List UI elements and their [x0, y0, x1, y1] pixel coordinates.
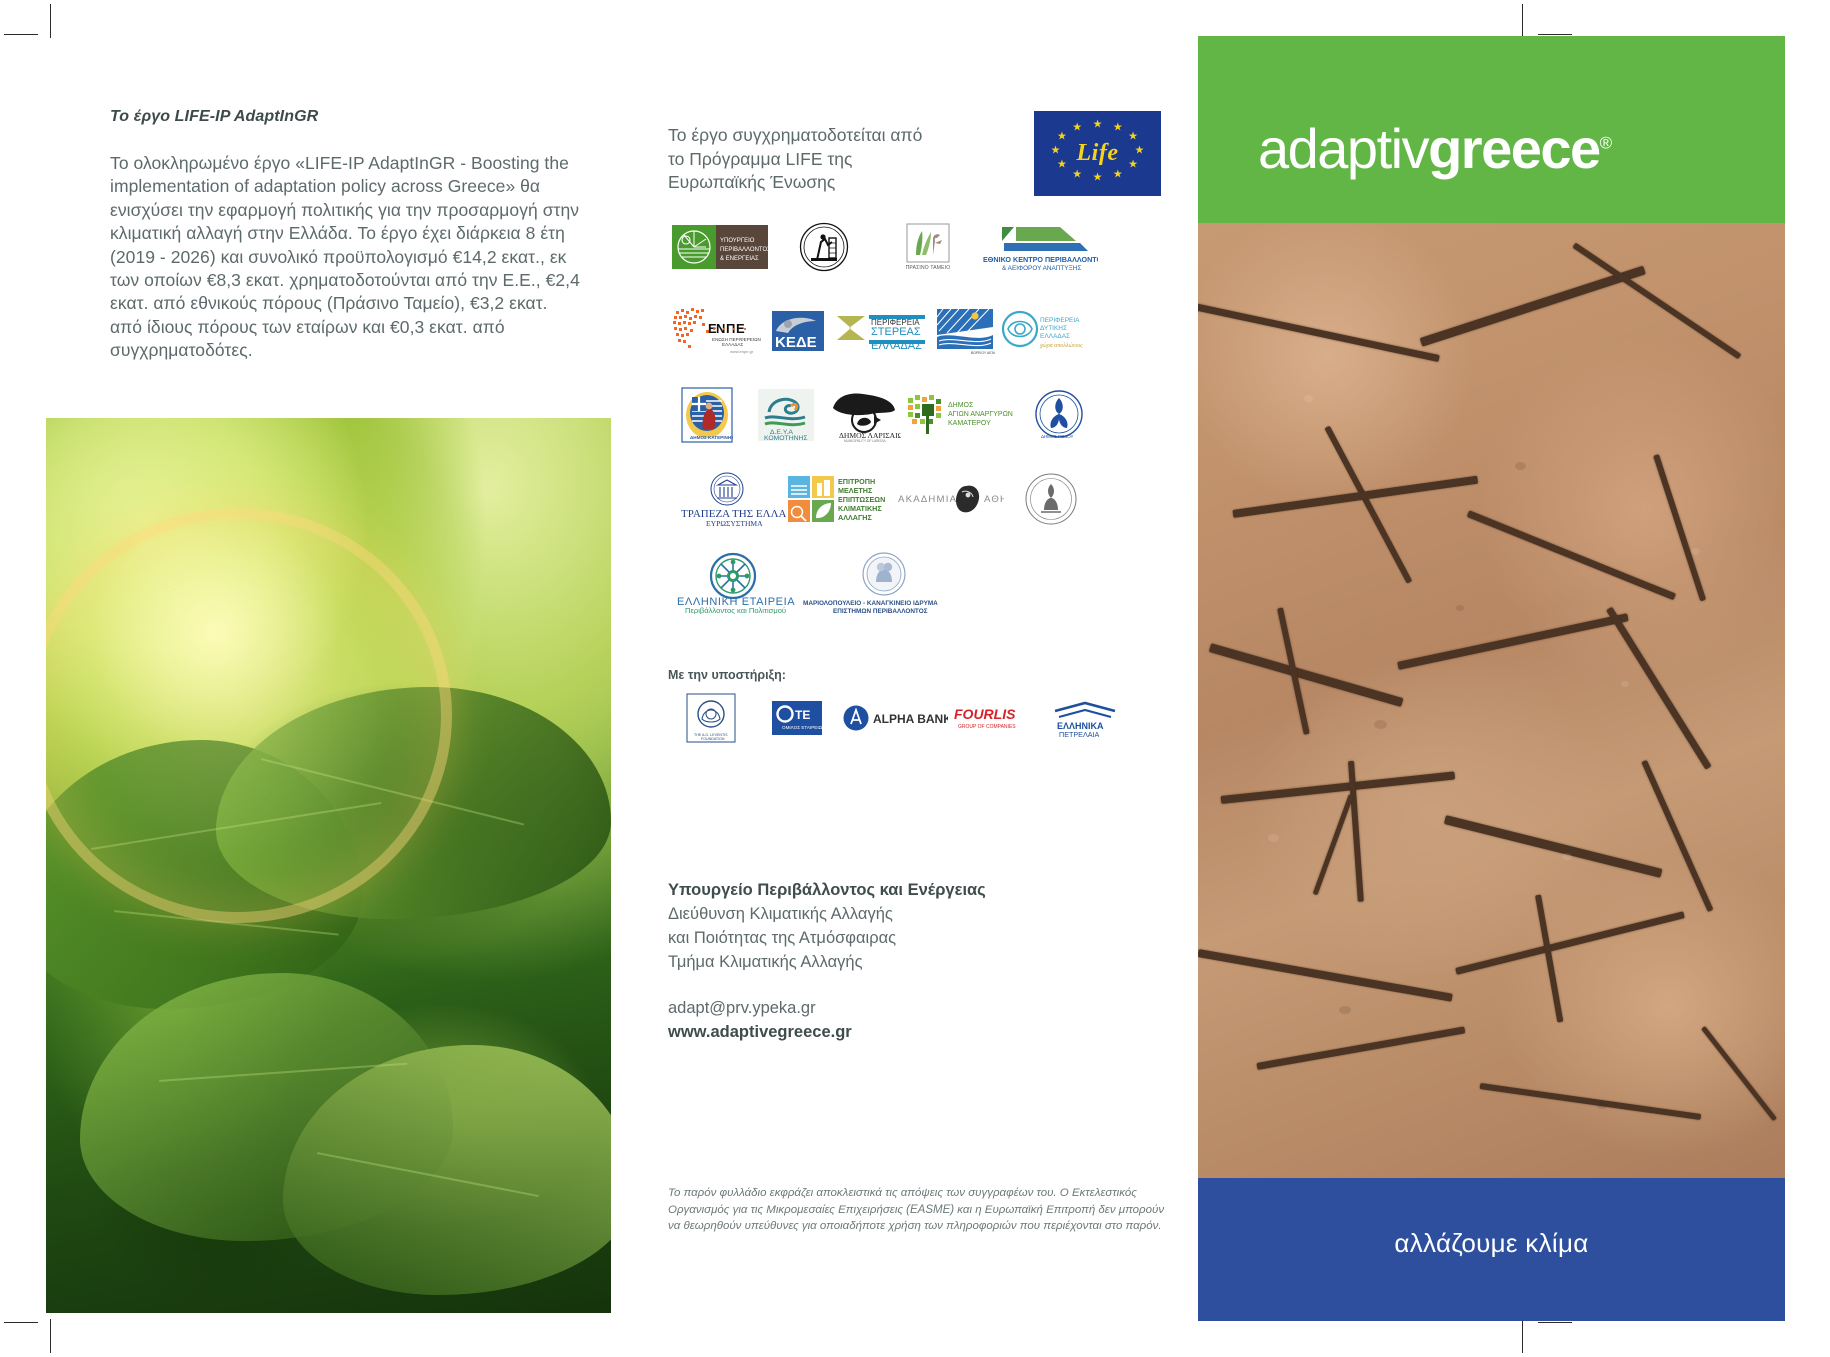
- crop-mark: [1538, 34, 1572, 35]
- spacer: [668, 974, 1098, 996]
- svg-text:TE: TE: [795, 708, 810, 722]
- brochure-page: Το έργο LIFE-IP AdaptInGR Το ολοκληρωμέν…: [0, 0, 1830, 1357]
- region-west-greece-logo: ΠΕΡΙΦΕΡΕΙΑ ΔΥΤΙΚΗΣ ΕΛΛΑΔΑΣ χώρα απολλώνι…: [998, 289, 1098, 373]
- svg-text:ΔΗΜΟΣ: ΔΗΜΟΣ: [948, 402, 974, 409]
- svg-text:ΔΗΜΟΣ ΡΟΔΟΥ: ΔΗΜΟΣ ΡΟΔΟΥ: [1041, 434, 1073, 439]
- crop-mark: [1522, 1319, 1523, 1353]
- contact-line-1: Διεύθυνση Κλιματικής Αλλαγής: [668, 902, 1098, 926]
- academy-of-athens-logo: ΑΚΑΔΗΜΙΑ ΑΘΗΝΩΝ: [898, 457, 1004, 541]
- svg-text:ΚΑΜΑΤΕΡΟΥ: ΚΑΜΑΤΕΡΟΥ: [948, 420, 991, 427]
- emeka-logo: ΕΠΙΤΡΟΠΗ ΜΕΛΕΤΗΣ ΕΠΙΠΤΩΣΕΩΝ ΚΛΙΜΑΤΙΚΗΣ Α…: [786, 457, 898, 541]
- alpha-bank-logo-icon: ALPHA BANK: [842, 703, 948, 733]
- enpe-logo-icon: Ε Ν Π Ε ΕΝΩΣΗ ΠΕΡΙΦΕΡΕΙΩΝ ΕΛΛΑΔΑΣ www.en…: [668, 305, 764, 357]
- ekpaa-logo-icon: ΕΘΝΙΚΟ ΚΕΝΤΡΟ ΠΕΡΙΒΑΛΛΟΝΤΟΣ & ΑΕΙΦΟΡΟΥ Α…: [980, 221, 1098, 273]
- onassis-foundation-logo-icon: THE A.G. LEVENTIS FOUNDATION: [686, 693, 736, 743]
- leaf-photo: [46, 418, 611, 1313]
- svg-text:ΣΤΕΡΕΑΣ: ΣΤΕΡΕΑΣ: [871, 326, 921, 338]
- svg-text:ΜΕΛΕΤΗΣ: ΜΕΛΕΤΗΣ: [838, 486, 873, 495]
- region-sterea-ellada-logo-icon: ΠΕΡΙΦΕΡΕΙΑ ΣΤΕΡΕΑΣ ΕΛΛΑΔΑΣ: [831, 308, 931, 354]
- kede-logo: ΚΕΔΕ: [764, 289, 831, 373]
- svg-text:ALPHA BANK: ALPHA BANK: [873, 712, 948, 726]
- svg-text:ΟΜΙΛΟΣ ΕΤΑΙΡΕΙΩΝ: ΟΜΙΛΟΣ ΕΤΑΙΡΕΙΩΝ: [782, 725, 823, 730]
- university-of-athens-logo-icon: [1024, 472, 1078, 526]
- middle-column: Το έργο συγχρηματοδοτείται από το Πρόγρα…: [668, 0, 1098, 1357]
- svg-text:& ΕΝΕΡΓΕΙΑΣ: & ΕΝΕΡΓΕΙΑΣ: [720, 256, 759, 262]
- svg-text:MUNICIPALITY OF LARISSA: MUNICIPALITY OF LARISSA: [844, 439, 887, 442]
- ypeka-logo-icon: ΥΠΟΥΡΓΕΙΟ ΠΕΡΙΒΑΛΛΟΝΤΟΣ & ΕΝΕΡΓΕΙΑΣ: [672, 225, 768, 269]
- svg-text:GROUP OF COMPANIES: GROUP OF COMPANIES: [958, 724, 1016, 730]
- kede-logo-icon: ΚΕΔΕ: [770, 309, 826, 353]
- svg-text:ΕΠΙΠΤΩΣΕΩΝ: ΕΠΙΠΤΩΣΕΩΝ: [838, 495, 885, 504]
- svg-text:Περιβάλλοντος και Πολιτισμού: Περιβάλλοντος και Πολιτισμού: [685, 606, 786, 614]
- life-programme-flag-icon: ★ ★ ★ ★ ★ ★ ★ ★ ★ ★ ★ ★ Life: [1034, 111, 1161, 196]
- svg-text:ΕΘΝΙΚΟ ΚΕΝΤΡΟ ΠΕΡΙΒΑΛΛΟΝΤΟΣ: ΕΘΝΙΚΟ ΚΕΝΤΡΟ ΠΕΡΙΒΑΛΛΟΝΤΟΣ: [983, 255, 1098, 264]
- green-fund-caption: ΠΡΑΣΙΝΟ ΤΑΜΕΙΟ: [906, 265, 951, 271]
- elliniki-etairia-logo-icon: ΕΛΛΗΝΙΚΗ ΕΤΑΙΡΕΙΑ Περιβάλλοντος και Πολι…: [671, 552, 795, 614]
- svg-text:ΠΕΡΙΦΕΡΕΙΑ: ΠΕΡΙΦΕΡΕΙΑ: [1040, 317, 1080, 324]
- pebble: [1515, 462, 1526, 470]
- svg-text:ΕΠΙΤΡΟΠΗ: ΕΠΙΤΡΟΠΗ: [838, 477, 875, 486]
- partner-logo-row: ΥΠΟΥΡΓΕΙΟ ΠΕΡΙΒΑΛΛΟΝΤΟΣ & ΕΝΕΡΓΕΙΑΣ: [668, 205, 1098, 289]
- ypeka-logo: ΥΠΟΥΡΓΕΙΟ ΠΕΡΙΒΑΛΛΟΝΤΟΣ & ΕΝΕΡΓΕΙΑΣ: [668, 205, 772, 289]
- svg-text:χώρα απολλώνιος: χώρα απολλώνιος: [1039, 343, 1083, 349]
- partner-logo-grid: ΥΠΟΥΡΓΕΙΟ ΠΕΡΙΒΑΛΛΟΝΤΟΣ & ΕΝΕΡΓΕΙΑΣ: [668, 205, 1098, 625]
- life-wordmark: Life: [1077, 140, 1119, 167]
- crop-mark: [4, 34, 38, 35]
- registered-mark-icon: ®: [1600, 133, 1611, 152]
- alpha-bank-logo: ALPHA BANK: [840, 690, 950, 746]
- municipality-katerini-logo: ΔΗΜΟΣ ΚΑΤΕΡΙΝΗΣ: [668, 373, 747, 457]
- crop-mark: [1522, 4, 1523, 38]
- municipality-rhodes-logo-icon: ΔΗΜΟΣ ΡΟΔΟΥ: [1034, 389, 1084, 441]
- soil-base: [1198, 223, 1785, 1178]
- brand-wordmark: adaptivgreece®: [1258, 116, 1611, 181]
- bank-of-greece-logo: ΤΡΑΠΕΖΑ ΤΗΣ ΕΛΛΑΔΟΣ ΕΥΡΩΣΥΣΤΗΜΑ: [668, 457, 786, 541]
- fourlis-logo: FOURLIS GROUP OF COMPANIES: [950, 690, 1042, 746]
- svg-text:ΠΕΡΙΒΑΛΛΟΝΤΟΣ: ΠΕΡΙΒΑΛΛΟΝΤΟΣ: [720, 247, 768, 253]
- partner-logo-row: ΕΛΛΗΝΙΚΗ ΕΤΑΙΡΕΙΑ Περιβάλλοντος και Πολι…: [668, 541, 1098, 625]
- svg-text:ΚΕΔΕ: ΚΕΔΕ: [775, 334, 817, 351]
- svg-text:ΕΥΡΩΣΥΣΤΗΜΑ: ΕΥΡΩΣΥΣΤΗΜΑ: [706, 519, 763, 527]
- svg-text:ΑΓΙΩΝ ΑΝΑΡΓΥΡΩΝ: ΑΓΙΩΝ ΑΝΑΡΓΥΡΩΝ: [948, 411, 1013, 418]
- svg-text:ΒΟΡΕΙΟΥ ΑΙΓΑΙΟΥ: ΒΟΡΕΙΟΥ ΑΙΓΑΙΟΥ: [971, 351, 995, 355]
- municipality-larissa-logo: ΔΗΜΟΣ ΛΑΡΙΣΑΙΩΝ MUNICIPALITY OF LARISSA: [825, 373, 904, 457]
- municipality-larissa-logo-icon: ΔΗΜΟΣ ΛΑΡΙΣΑΙΩΝ MUNICIPALITY OF LARISSA: [827, 388, 901, 442]
- svg-text:FOUNDATION: FOUNDATION: [701, 737, 725, 741]
- supporters-label: Με την υποστήριξη:: [668, 668, 786, 682]
- onassis-foundation-logo: THE A.G. LEVENTIS FOUNDATION: [668, 690, 754, 746]
- fourlis-logo-icon: FOURLIS GROUP OF COMPANIES: [952, 704, 1040, 732]
- enpe-logo: Ε Ν Π Ε ΕΝΩΣΗ ΠΕΡΙΦΕΡΕΙΩΝ ΕΛΛΑΔΑΣ www.en…: [668, 289, 764, 373]
- pebble: [1304, 395, 1313, 402]
- svg-text:ΠΕΤΡΕΛΑΙΑ: ΠΕΤΡΕΛΑΙΑ: [1059, 730, 1100, 738]
- elliniki-etairia-logo: ΕΛΛΗΝΙΚΗ ΕΤΑΙΡΕΙΑ Περιβάλλοντος και Πολι…: [668, 541, 798, 625]
- svg-text:ΥΠΟΥΡΓΕΙΟ: ΥΠΟΥΡΓΕΙΟ: [720, 238, 755, 244]
- svg-text:www.enpe.gr: www.enpe.gr: [730, 349, 754, 354]
- contact-website[interactable]: www.adaptivegreece.gr: [668, 1020, 1098, 1044]
- ntua-seal-logo-icon: [799, 222, 849, 272]
- svg-text:ΕΛΛΑΔΑΣ: ΕΛΛΑΔΑΣ: [871, 340, 922, 352]
- municipality-rhodes-logo: ΔΗΜΟΣ ΡΟΔΟΥ: [1020, 373, 1099, 457]
- svg-text:ΕΛΛΑΔΑΣ: ΕΛΛΑΔΑΣ: [1040, 333, 1070, 340]
- pebble: [1374, 720, 1387, 729]
- cracked-earth-photo: [1198, 223, 1785, 1178]
- municipality-agioi-anargyroi-kamatero-logo: ΔΗΜΟΣ ΑΓΙΩΝ ΑΝΑΡΓΥΡΩΝ ΚΑΜΑΤΕΡΟΥ: [904, 373, 1020, 457]
- crop-mark: [50, 1319, 51, 1353]
- svg-text:ΑΚΑΔΗΜΙΑ: ΑΚΑΔΗΜΙΑ: [898, 494, 957, 505]
- pebble: [1339, 1006, 1351, 1014]
- region-north-aegean-logo-icon: ΒΟΡΕΙΟΥ ΑΙΓΑΙΟΥ: [935, 307, 995, 355]
- ekpaa-logo: ΕΘΝΙΚΟ ΚΕΝΤΡΟ ΠΕΡΙΒΑΛΛΟΝΤΟΣ & ΑΕΙΦΟΡΟΥ Α…: [980, 205, 1098, 289]
- mariolopoulou-kanaginei-foundation-logo: ΜΑΡΙΟΛΟΠΟΥΛΕΙΟ - ΚΑΝΑΓΚΙΝΕΙΟ ΙΔΡΥΜΑ ΕΠΙΣ…: [798, 541, 968, 625]
- project-heading: Το έργο LIFE-IP AdaptInGR: [110, 108, 580, 126]
- ntua-seal-logo: [772, 205, 876, 289]
- crop-mark: [1538, 1322, 1572, 1323]
- cofunding-text: Το έργο συγχρηματοδοτείται από το Πρόγρα…: [668, 124, 930, 195]
- svg-text:Ε: Ε: [736, 321, 745, 336]
- bank-of-greece-logo-icon: ΤΡΑΠΕΖΑ ΤΗΣ ΕΛΛΑΔΟΣ ΕΥΡΩΣΥΣΤΗΜΑ: [668, 471, 786, 527]
- brand-light: adaptiv: [1258, 117, 1428, 180]
- contact-block: Υπουργείο Περιβάλλοντος και Ενέργειας Δι…: [668, 878, 1098, 1044]
- brand-bold: greece: [1428, 117, 1600, 180]
- municipality-katerini-logo-icon: ΔΗΜΟΣ ΚΑΤΕΡΙΝΗΣ: [681, 387, 733, 443]
- partner-logo-row: ΤΡΑΠΕΖΑ ΤΗΣ ΕΛΛΑΔΟΣ ΕΥΡΩΣΥΣΤΗΜΑ: [668, 457, 1098, 541]
- pebble: [1691, 548, 1700, 555]
- region-west-greece-logo-icon: ΠΕΡΙΦΕΡΕΙΑ ΔΥΤΙΚΗΣ ΕΛΛΑΔΑΣ χώρα απολλώνι…: [998, 309, 1098, 353]
- hellenic-petroleum-logo: ΕΛΛΗΝΙΚΑ ΠΕΤΡΕΛΑΙΑ: [1042, 690, 1126, 746]
- svg-text:ΚΟΜΟΤΗΝΗΣ: ΚΟΜΟΤΗΝΗΣ: [764, 435, 808, 442]
- svg-text:ΑΘΗΝΩΝ: ΑΘΗΝΩΝ: [984, 494, 1004, 505]
- university-of-athens-logo: [1004, 457, 1098, 541]
- contact-org: Υπουργείο Περιβάλλοντος και Ενέργειας: [668, 878, 1098, 902]
- ote-logo-icon: TE ΟΜΙΛΟΣ ΕΤΑΙΡΕΙΩΝ: [771, 700, 823, 736]
- green-fund-logo-icon: [906, 223, 950, 263]
- svg-text:ΑΛΛΑΓΗΣ: ΑΛΛΑΓΗΣ: [838, 513, 872, 522]
- deya-komotini-logo-icon: Δ.Ε.Υ.Α ΚΟΜΟΤΗΝΗΣ: [757, 388, 815, 442]
- svg-text:ΕΛΛΑΔΑΣ: ΕΛΛΑΔΑΣ: [722, 342, 743, 347]
- region-north-aegean-logo: ΒΟΡΕΙΟΥ ΑΙΓΑΙΟΥ: [931, 289, 998, 373]
- contact-email[interactable]: adapt@prv.ypeka.gr: [668, 996, 1098, 1020]
- crop-mark: [4, 1322, 38, 1323]
- project-description-block: Το έργο LIFE-IP AdaptInGR Το ολοκληρωμέν…: [110, 108, 580, 363]
- svg-text:ΜΑΡΙΟΛΟΠΟΥΛΕΙΟ - ΚΑΝΑΓΚΙΝΕΙΟ Ι: ΜΑΡΙΟΛΟΠΟΥΛΕΙΟ - ΚΑΝΑΓΚΙΝΕΙΟ ΙΔΡΥΜΑ: [803, 600, 938, 607]
- emeka-logo-icon: ΕΠΙΤΡΟΠΗ ΜΕΛΕΤΗΣ ΕΠΙΠΤΩΣΕΩΝ ΚΛΙΜΑΤΙΚΗΣ Α…: [786, 474, 898, 524]
- municipality-agioi-anargyroi-kamatero-logo-icon: ΔΗΜΟΣ ΑΓΙΩΝ ΑΝΑΡΓΥΡΩΝ ΚΑΜΑΤΕΡΟΥ: [904, 390, 1020, 440]
- contact-line-2: και Ποιότητας της Ατμόσφαιρας: [668, 926, 1098, 950]
- mariolopoulou-kanaginei-foundation-logo-icon: ΜΑΡΙΟΛΟΠΟΥΛΕΙΟ - ΚΑΝΑΓΚΙΝΕΙΟ ΙΔΡΥΜΑ ΕΠΙΣ…: [800, 552, 966, 614]
- contact-line-3: Τμήμα Κλιματικής Αλλαγής: [668, 950, 1098, 974]
- front-cover-panel: adaptivgreece®: [1198, 36, 1785, 1321]
- academy-of-athens-logo-icon: ΑΚΑΔΗΜΙΑ ΑΘΗΝΩΝ: [898, 476, 1004, 522]
- supporters-row: THE A.G. LEVENTIS FOUNDATION TE ΟΜΙΛΟΣ Ε…: [668, 690, 1098, 746]
- partner-logo-row: ΔΗΜΟΣ ΚΑΤΕΡΙΝΗΣ Δ.Ε.Υ.Α ΚΟΜΟΤΗΝΗΣ: [668, 373, 1098, 457]
- svg-text:ΚΛΙΜΑΤΙΚΗΣ: ΚΛΙΜΑΤΙΚΗΣ: [838, 504, 882, 513]
- project-paragraph: Το ολοκληρωμένο έργο «LIFE-IP AdaptInGR …: [110, 152, 580, 363]
- svg-text:FOURLIS: FOURLIS: [954, 706, 1016, 722]
- crop-mark: [50, 4, 51, 38]
- region-sterea-ellada-logo: ΠΕΡΙΦΕΡΕΙΑ ΣΤΕΡΕΑΣ ΕΛΛΑΔΑΣ: [831, 289, 931, 373]
- svg-text:& ΑΕΙΦΟΡΟΥ ΑΝΑΠΤΥΞΗΣ: & ΑΕΙΦΟΡΟΥ ΑΝΑΠΤΥΞΗΣ: [1002, 265, 1081, 272]
- pebble: [1597, 1102, 1607, 1109]
- svg-text:ΕΠΙΣΤΗΜΩΝ ΠΕΡΙΒΑΛΛΟΝΤΟΣ: ΕΠΙΣΤΗΜΩΝ ΠΕΡΙΒΑΛΛΟΝΤΟΣ: [833, 608, 928, 614]
- deya-komotini-logo: Δ.Ε.Υ.Α ΚΟΜΟΤΗΝΗΣ: [747, 373, 826, 457]
- disclaimer-text: Το παρόν φυλλάδιο εκφράζει αποκλειστικά …: [668, 1185, 1168, 1235]
- ote-logo: TE ΟΜΙΛΟΣ ΕΤΑΙΡΕΙΩΝ: [754, 690, 840, 746]
- green-fund-logo: ΠΡΑΣΙΝΟ ΤΑΜΕΙΟ: [876, 205, 980, 289]
- svg-text:ΔΗΜΟΣ ΚΑΤΕΡΙΝΗΣ: ΔΗΜΟΣ ΚΑΤΕΡΙΝΗΣ: [690, 435, 733, 440]
- partner-logo-row: Ε Ν Π Ε ΕΝΩΣΗ ΠΕΡΙΦΕΡΕΙΩΝ ΕΛΛΑΔΑΣ www.en…: [668, 289, 1098, 373]
- cover-tagline: αλλάζουμε κλίμα: [1198, 1228, 1785, 1259]
- svg-text:ΔΥΤΙΚΗΣ: ΔΥΤΙΚΗΣ: [1040, 325, 1067, 332]
- hellenic-petroleum-logo-icon: ΕΛΛΗΝΙΚΑ ΠΕΤΡΕΛΑΙΑ: [1045, 698, 1123, 738]
